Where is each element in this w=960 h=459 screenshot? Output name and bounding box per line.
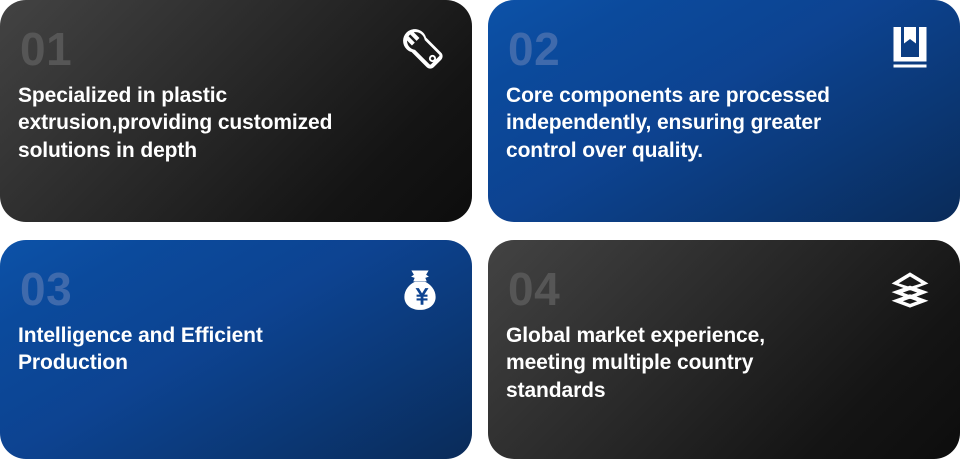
card-title: Core components are processed independen… <box>506 82 936 164</box>
feature-card-04[interactable]: 04 Global market experience, meeting mul… <box>488 240 960 459</box>
feature-card-03[interactable]: 03 Intelligence and Efficient Production <box>0 240 472 459</box>
wrench-icon <box>396 22 448 74</box>
feature-card-02[interactable]: 02 Core components are processed indepen… <box>488 0 960 222</box>
money-bag-yen-icon <box>394 264 446 316</box>
feature-card-grid: 01 Specialized in plastic extrusion,prov… <box>0 0 960 459</box>
card-number: 01 <box>20 26 450 72</box>
card-number: 02 <box>508 26 938 72</box>
feature-card-01[interactable]: 01 Specialized in plastic extrusion,prov… <box>0 0 472 222</box>
card-number: 03 <box>20 266 450 312</box>
card-title: Global market experience, meeting multip… <box>506 322 936 404</box>
card-number: 04 <box>508 266 938 312</box>
layers-stack-icon <box>884 264 936 316</box>
book-bookmark-icon <box>884 22 936 74</box>
card-title: Specialized in plastic extrusion,providi… <box>18 82 448 164</box>
card-title: Intelligence and Efficient Production <box>18 322 448 377</box>
